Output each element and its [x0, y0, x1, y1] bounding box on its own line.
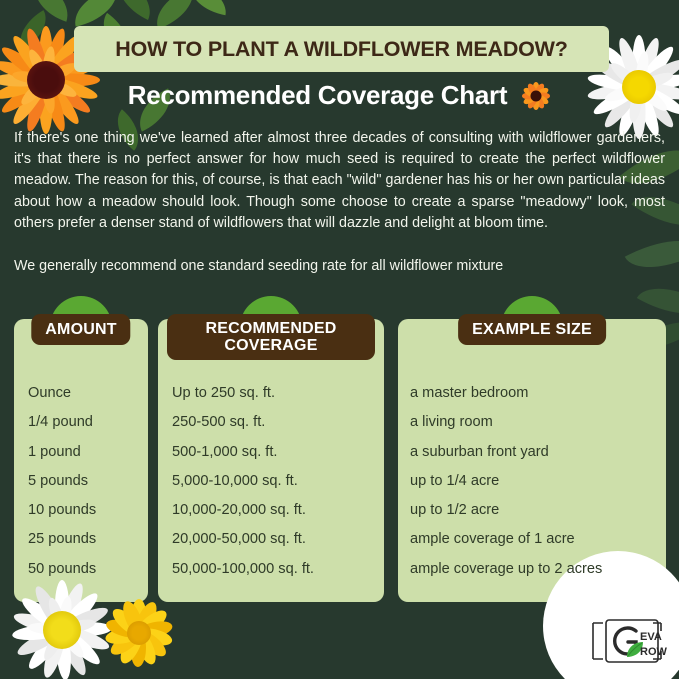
table-row: 250-500 sq. ft. — [172, 408, 370, 437]
table-row: 5,000-10,000 sq. ft. — [172, 467, 370, 496]
table-row: a suburban front yard — [410, 438, 654, 467]
table-row: 5 pounds — [28, 467, 134, 496]
table-row: a master bedroom — [410, 379, 654, 408]
table-row: ample coverage of 1 acre — [410, 525, 654, 554]
logo-svg: EVA ROW — [587, 615, 671, 667]
table-row: 25 pounds — [28, 525, 134, 554]
eva-grow-logo[interactable]: EVA ROW — [587, 615, 671, 667]
column-rows-amount: Ounce 1/4 pound 1 pound 5 pounds 10 poun… — [14, 379, 148, 584]
subtitle-row: Recommended Coverage Chart — [0, 80, 679, 111]
page-subtitle: Recommended Coverage Chart — [128, 80, 507, 111]
title-banner: HOW TO PLANT A WILDFLOWER MEADOW? — [74, 26, 609, 72]
table-column-example-size: EXAMPLE SIZE a master bedroom a living r… — [398, 296, 666, 602]
logo-text-row: ROW — [640, 646, 668, 658]
table-row: up to 1/4 acre — [410, 467, 654, 496]
small-orange-flower — [521, 81, 551, 111]
column-rows-example: a master bedroom a living room a suburba… — [398, 379, 666, 584]
coverage-table: AMOUNT Ounce 1/4 pound 1 pound 5 pounds … — [0, 296, 679, 602]
logo-text-eva: EVA — [640, 631, 662, 643]
seeding-rate-note: We generally recommend one standard seed… — [14, 256, 665, 277]
table-column-amount: AMOUNT Ounce 1/4 pound 1 pound 5 pounds … — [14, 296, 148, 602]
table-row: 10 pounds — [28, 496, 134, 525]
flower-center — [531, 90, 542, 101]
page-title: HOW TO PLANT A WILDFLOWER MEADOW? — [115, 37, 567, 62]
infographic-poster: HOW TO PLANT A WILDFLOWER MEADOW? Recomm… — [0, 0, 679, 679]
table-row: 500-1,000 sq. ft. — [172, 438, 370, 467]
table-column-recommended-coverage: RECOMMENDED COVERAGE Up to 250 sq. ft. 2… — [158, 296, 384, 602]
table-row: 50 pounds — [28, 555, 134, 584]
table-row: a living room — [410, 408, 654, 437]
flower-center — [127, 621, 151, 645]
column-rows-coverage: Up to 250 sq. ft. 250-500 sq. ft. 500-1,… — [158, 379, 384, 584]
column-header-amount: AMOUNT — [31, 314, 130, 345]
table-row: 10,000-20,000 sq. ft. — [172, 496, 370, 525]
table-row: 1 pound — [28, 438, 134, 467]
table-row: 50,000-100,000 sq. ft. — [172, 555, 370, 584]
table-row: Up to 250 sq. ft. — [172, 379, 370, 408]
column-header-recommended-coverage: RECOMMENDED COVERAGE — [167, 314, 375, 360]
table-row: 1/4 pound — [28, 408, 134, 437]
flower-center — [43, 611, 81, 649]
table-row: up to 1/2 acre — [410, 496, 654, 525]
column-header-example-size: EXAMPLE SIZE — [458, 314, 606, 345]
table-row: 20,000-50,000 sq. ft. — [172, 525, 370, 554]
table-row: Ounce — [28, 379, 134, 408]
yellow-coreopsis-flower — [98, 592, 180, 674]
table-row: ample coverage up to 2 acres — [410, 555, 654, 584]
intro-paragraph: If there's one thing we've learned after… — [14, 128, 665, 234]
